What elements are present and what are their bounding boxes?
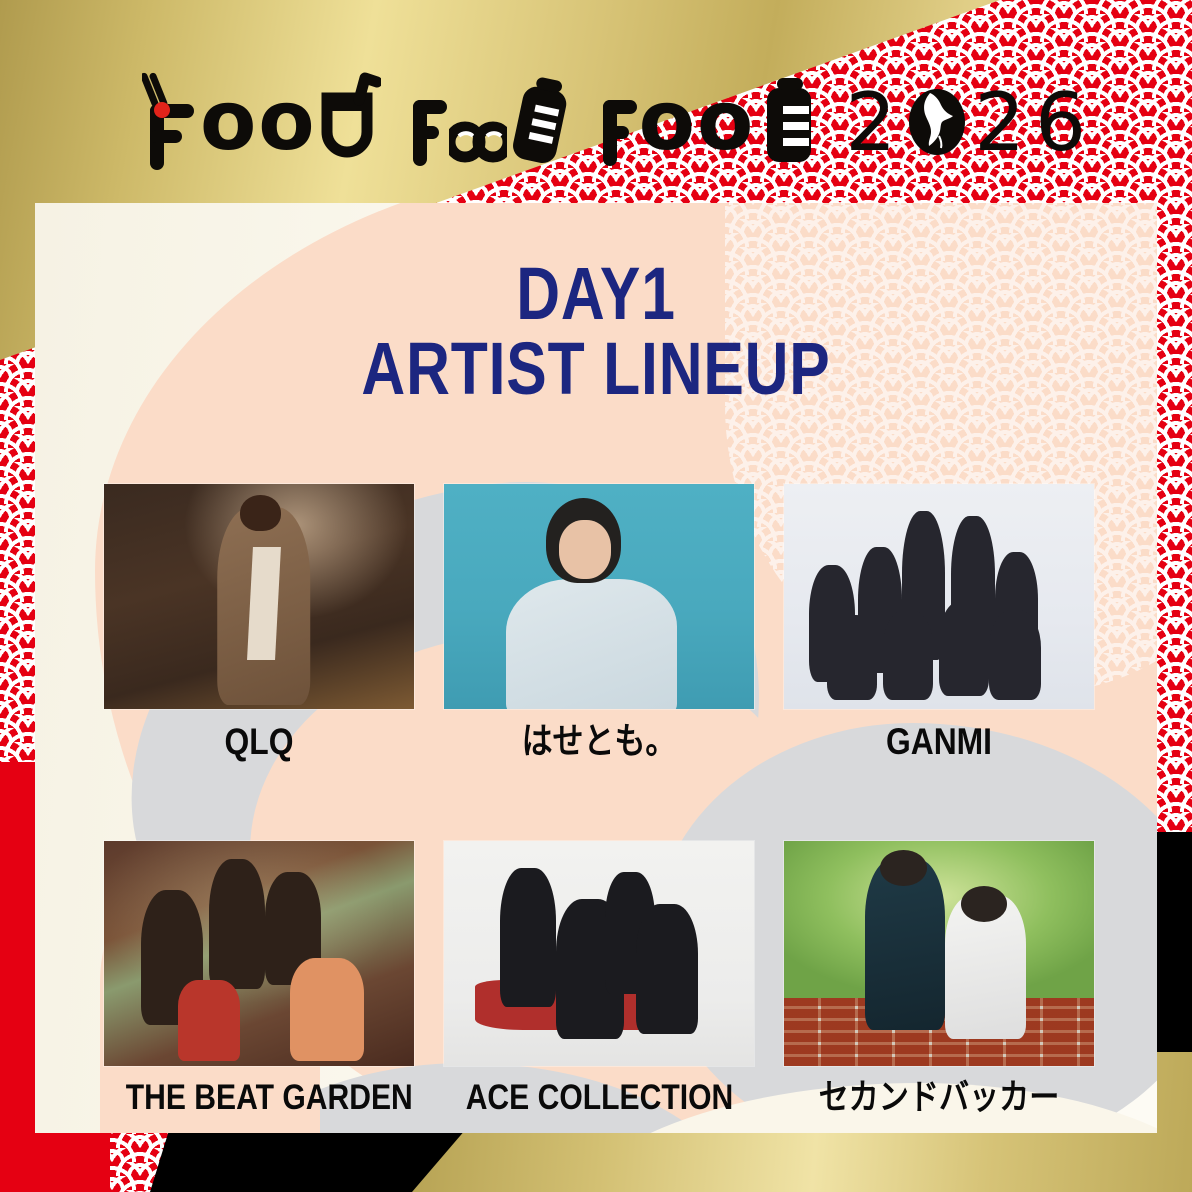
artist-name-the-beat-garden: THE BEAT GARDEN bbox=[126, 1080, 393, 1117]
ganmi-photo bbox=[784, 484, 1094, 709]
artist-name-hasetomo: はせとも。 bbox=[466, 723, 733, 761]
japan-map-icon bbox=[906, 79, 968, 165]
artist-card-ganmi[interactable]: GANMI bbox=[784, 484, 1094, 762]
onigiri-icon bbox=[449, 74, 507, 170]
artist-name-ganmi: GANMI bbox=[806, 723, 1073, 762]
logo-word-3: oo bbox=[597, 72, 820, 172]
year-digit-2b: 2 bbox=[974, 76, 1029, 169]
logo-letter-f-3 bbox=[597, 74, 637, 170]
the-beat-garden-photo bbox=[104, 841, 414, 1066]
festival-logo: oo bbox=[0, 62, 1192, 182]
qlq-photo bbox=[104, 484, 414, 709]
burger-icon bbox=[757, 72, 819, 172]
artist-card-ace-collection[interactable]: ACE COLLECTION bbox=[444, 841, 754, 1117]
artist-card-second-backer[interactable]: セカンドバッカー bbox=[784, 841, 1094, 1117]
artist-name-qlq: QLQ bbox=[126, 723, 393, 762]
artist-name-ace-collection: ACE COLLECTION bbox=[466, 1080, 733, 1117]
chopsticks-noodle-icon bbox=[142, 70, 198, 174]
year-digit-2: 2 bbox=[845, 76, 900, 169]
ace-collection-photo bbox=[444, 841, 754, 1066]
headline-day: DAY1 bbox=[107, 258, 1084, 329]
artist-lineup-grid: QLQ はせとも。 GANMI bbox=[104, 484, 1094, 1117]
artist-card-hasetomo[interactable]: はせとも。 bbox=[444, 484, 754, 762]
logo-text-oo-1: oo bbox=[200, 81, 317, 163]
logo-word-1: oo bbox=[142, 70, 381, 174]
logo-year: 2 2 6 bbox=[845, 76, 1090, 169]
page-title: DAY1 ARTIST LINEUP bbox=[0, 258, 1192, 404]
poster-canvas: oo bbox=[0, 0, 1192, 1192]
artist-card-qlq[interactable]: QLQ bbox=[104, 484, 414, 762]
artist-name-second-backer: セカンドバッカー bbox=[806, 1080, 1073, 1117]
year-digit-6: 6 bbox=[1035, 76, 1090, 169]
rice-bowl-icon bbox=[509, 72, 571, 172]
second-backer-photo bbox=[784, 841, 1094, 1066]
logo-letter-f-2 bbox=[407, 74, 447, 170]
logo-word-2 bbox=[407, 72, 571, 172]
artist-card-the-beat-garden[interactable]: THE BEAT GARDEN bbox=[104, 841, 414, 1117]
drink-cup-icon bbox=[319, 72, 381, 173]
hasetomo-photo bbox=[444, 484, 754, 709]
logo-text-oo-3: oo bbox=[639, 81, 756, 163]
headline-lineup: ARTIST LINEUP bbox=[107, 333, 1084, 404]
